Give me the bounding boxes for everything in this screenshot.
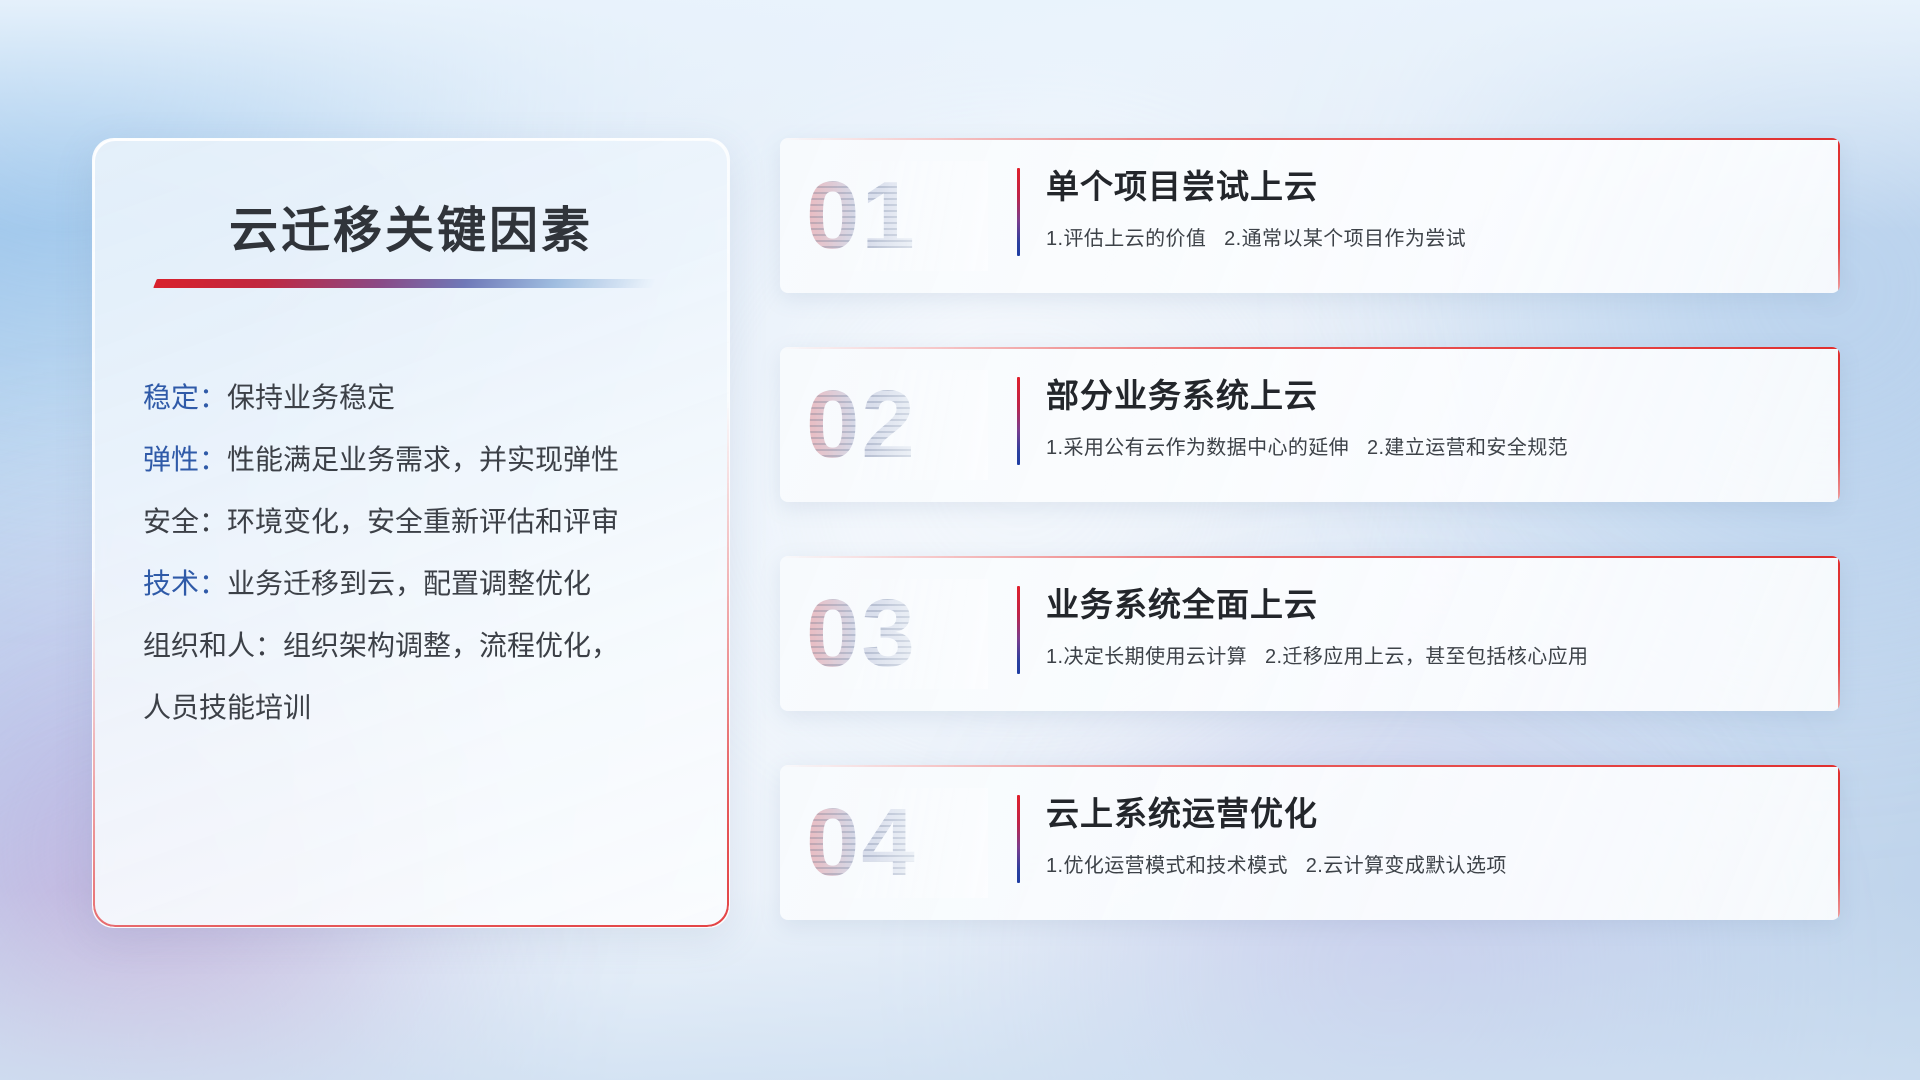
card-subtitle: 1.评估上云的价值 2.通常以某个项目作为尝试 bbox=[1046, 224, 1812, 254]
list-item: 稳定：保持业务稳定 bbox=[143, 367, 695, 429]
stage-number-watermark: 03 bbox=[806, 586, 917, 682]
stage-card[interactable]: 01 单个项目尝试上云 1.评估上云的价值 2.通常以某个项目作为尝试 bbox=[780, 138, 1840, 293]
card-title: 云上系统运营优化 bbox=[1046, 791, 1812, 837]
card-subtitle: 1.采用公有云作为数据中心的延伸 2.建立运营和安全规范 bbox=[1046, 433, 1812, 463]
card-accent-bar bbox=[1017, 377, 1020, 465]
list-item-text: 环境变化，安全重新评估和评审 bbox=[227, 506, 619, 537]
stage-number-watermark: 02 bbox=[806, 377, 917, 473]
stage-card[interactable]: 03 业务系统全面上云 1.决定长期使用云计算 2.迁移应用上云，甚至包括核心应… bbox=[780, 556, 1840, 711]
stage-card[interactable]: 02 部分业务系统上云 1.采用公有云作为数据中心的延伸 2.建立运营和安全规范 bbox=[780, 347, 1840, 502]
stage-number-watermark: 01 bbox=[806, 168, 917, 264]
card-text-block: 业务系统全面上云 1.决定长期使用云计算 2.迁移应用上云，甚至包括核心应用 bbox=[1046, 582, 1812, 672]
card-accent-bar bbox=[1017, 586, 1020, 674]
card-title: 业务系统全面上云 bbox=[1046, 582, 1812, 628]
card-text-block: 云上系统运营优化 1.优化运营模式和技术模式 2.云计算变成默认选项 bbox=[1046, 791, 1812, 881]
title-underline-accent bbox=[153, 279, 657, 288]
card-title: 单个项目尝试上云 bbox=[1046, 164, 1812, 210]
key-factors-panel: 云迁移关键因素 稳定：保持业务稳定 弹性：性能满足业务需求，并实现弹性 安全：环… bbox=[92, 138, 730, 928]
card-accent-bar bbox=[1017, 168, 1020, 256]
list-item-text: 组织架构调整，流程优化， bbox=[283, 630, 619, 661]
list-item: 组织和人：组织架构调整，流程优化， bbox=[143, 615, 695, 677]
page-title: 云迁移关键因素 bbox=[93, 191, 729, 262]
list-item-label: 组织和人： bbox=[143, 630, 283, 661]
list-item-text: 性能满足业务需求，并实现弹性 bbox=[227, 444, 619, 475]
list-item: 弹性：性能满足业务需求，并实现弹性 bbox=[143, 429, 695, 491]
card-text-block: 单个项目尝试上云 1.评估上云的价值 2.通常以某个项目作为尝试 bbox=[1046, 164, 1812, 254]
stage-number-watermark: 04 bbox=[806, 795, 917, 891]
card-title: 部分业务系统上云 bbox=[1046, 373, 1812, 419]
list-item-label: 技术： bbox=[143, 568, 227, 599]
slide-canvas: 云迁移关键因素 稳定：保持业务稳定 弹性：性能满足业务需求，并实现弹性 安全：环… bbox=[0, 0, 1920, 1080]
list-item-text: 业务迁移到云，配置调整优化 bbox=[227, 568, 591, 599]
card-subtitle: 1.优化运营模式和技术模式 2.云计算变成默认选项 bbox=[1046, 851, 1812, 881]
card-accent-bar bbox=[1017, 795, 1020, 883]
key-factors-list: 稳定：保持业务稳定 弹性：性能满足业务需求，并实现弹性 安全：环境变化，安全重新… bbox=[143, 367, 695, 739]
list-item: 人员技能培训 bbox=[143, 677, 695, 739]
list-item-text: 保持业务稳定 bbox=[227, 382, 395, 413]
card-text-block: 部分业务系统上云 1.采用公有云作为数据中心的延伸 2.建立运营和安全规范 bbox=[1046, 373, 1812, 463]
list-item-label: 安全： bbox=[143, 506, 227, 537]
list-item-text: 人员技能培训 bbox=[143, 692, 311, 723]
list-item: 技术：业务迁移到云，配置调整优化 bbox=[143, 553, 695, 615]
migration-stage-cards: 01 单个项目尝试上云 1.评估上云的价值 2.通常以某个项目作为尝试 02 部… bbox=[780, 138, 1840, 920]
stage-card[interactable]: 04 云上系统运营优化 1.优化运营模式和技术模式 2.云计算变成默认选项 bbox=[780, 765, 1840, 920]
list-item-label: 稳定： bbox=[143, 382, 227, 413]
card-subtitle: 1.决定长期使用云计算 2.迁移应用上云，甚至包括核心应用 bbox=[1046, 642, 1812, 672]
list-item-label: 弹性： bbox=[143, 444, 227, 475]
list-item: 安全：环境变化，安全重新评估和评审 bbox=[143, 491, 695, 553]
